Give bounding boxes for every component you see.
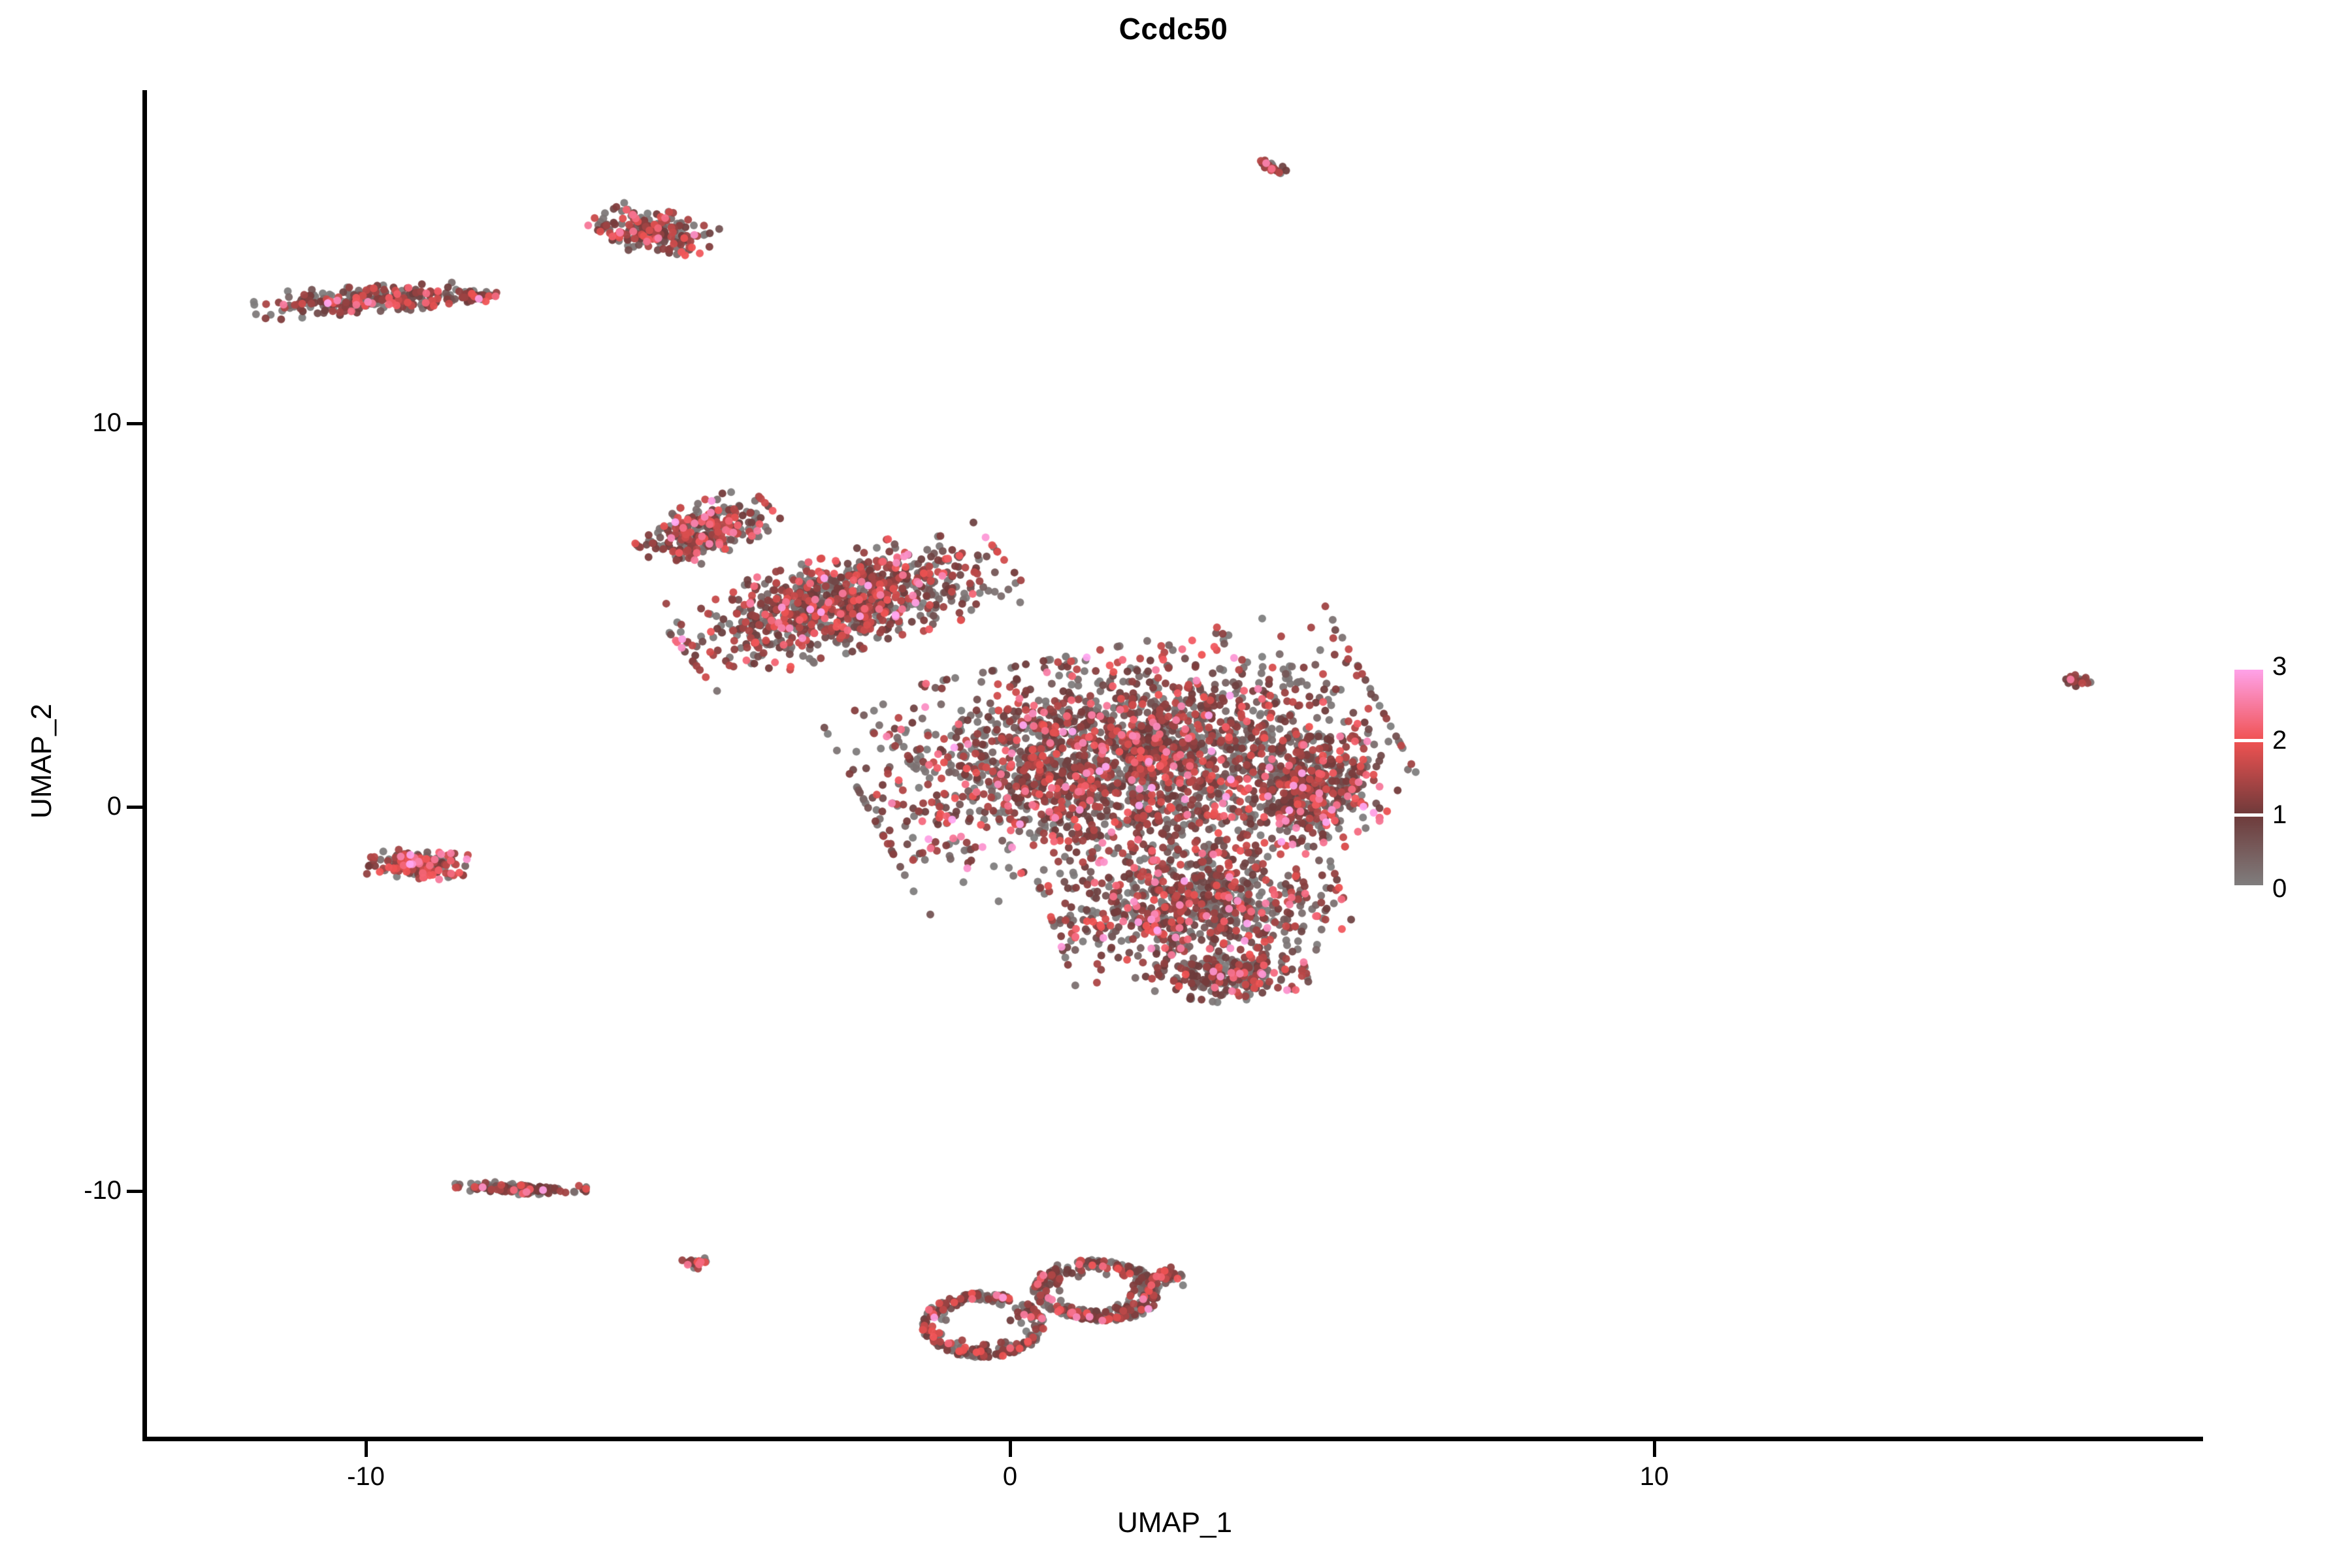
y-tick-label: -10 xyxy=(0,1176,122,1205)
legend-label: 0 xyxy=(2272,875,2287,902)
legend-tick-mark xyxy=(2234,666,2263,670)
legend-label: 1 xyxy=(2272,802,2287,828)
color-gradient-bar xyxy=(2234,666,2263,889)
x-tick-label: -10 xyxy=(301,1462,431,1492)
umap-feature-plot: Ccdc50 -10 0 10 10 0 -10 UMAP_1 UMAP_2 3… xyxy=(0,0,2352,1568)
color-legend: 3 2 1 0 xyxy=(2234,666,2332,895)
x-axis-line xyxy=(142,1437,2203,1441)
y-tick-mark xyxy=(127,1190,142,1193)
legend-tick-mark xyxy=(2234,739,2263,742)
x-tick-mark xyxy=(1653,1441,1656,1457)
scatter-points-canvas xyxy=(146,91,2203,1439)
legend-label: 3 xyxy=(2272,653,2287,679)
y-tick-label: 10 xyxy=(0,408,122,438)
plot-panel xyxy=(146,91,2203,1439)
page-title: Ccdc50 xyxy=(144,9,2203,48)
y-tick-mark xyxy=(127,806,142,809)
y-tick-mark xyxy=(127,422,142,425)
legend-label: 2 xyxy=(2272,727,2287,753)
x-tick-mark xyxy=(1009,1441,1012,1457)
x-tick-label: 10 xyxy=(1589,1462,1720,1492)
x-tick-label: 0 xyxy=(945,1462,1075,1492)
x-tick-mark xyxy=(365,1441,368,1457)
x-axis-title: UMAP_1 xyxy=(146,1507,2203,1539)
y-axis-line xyxy=(142,90,147,1441)
y-axis-title: UMAP_2 xyxy=(25,434,58,1088)
legend-tick-mark xyxy=(2234,813,2263,817)
legend-tick-mark xyxy=(2234,885,2263,889)
y-tick-label: 0 xyxy=(0,792,122,821)
